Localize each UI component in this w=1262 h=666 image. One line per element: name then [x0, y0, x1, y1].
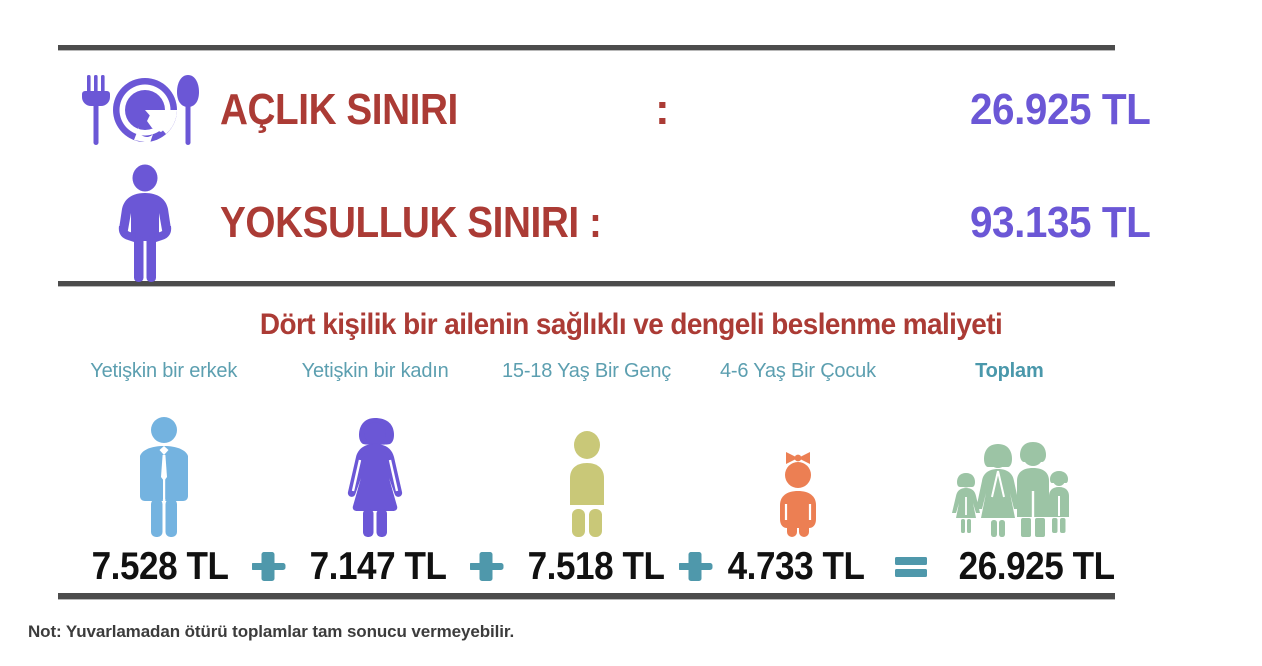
standing-person-icon	[70, 164, 220, 282]
divider-bottom	[58, 593, 1115, 599]
totals-row: 7.528 TL 7.147 TL 7.518 TL 4.733 TL	[58, 543, 1115, 591]
column-label-young-child: 4-6 Yaş Bir Çocuk	[720, 360, 876, 388]
amount-young-child: 4.733 TL	[728, 545, 865, 589]
operator-plus-1	[236, 550, 302, 584]
operator-plus-2	[454, 550, 520, 584]
footnote: Not: Yuvarlamadan ötürü toplamlar tam so…	[28, 622, 514, 642]
column-total: Toplam	[904, 360, 1115, 540]
amount-total: 26.925 TL	[959, 545, 1115, 589]
poverty-limit-value: 93.135 TL	[970, 198, 1150, 248]
infographic-page: Açlık ve yoksulluk sınırı	[0, 0, 1262, 666]
operator-plus-3	[672, 550, 720, 584]
column-label-teenager: 15-18 Yaş Bir Genç	[502, 360, 671, 388]
column-label-adult-man: Yetişkin bir erkek	[90, 360, 237, 388]
poverty-limit-row: YOKSULLUK SINIRI : 93.135 TL	[70, 165, 1110, 280]
family-columns: Yetişkin bir erkek	[58, 360, 1115, 540]
family-group-icon	[949, 388, 1069, 540]
column-adult-man: Yetişkin bir erkek	[58, 360, 269, 540]
column-adult-woman: Yetişkin bir kadın	[269, 360, 480, 540]
divider-middle	[58, 281, 1115, 286]
divider-top	[58, 45, 1115, 50]
plate-fork-knife-icon	[70, 71, 220, 149]
amount-teenager: 7.518 TL	[527, 545, 664, 589]
column-label-total: Toplam	[975, 360, 1043, 388]
family-section-title: Dört kişilik bir ailenin sağlıklı ve den…	[0, 308, 1262, 342]
hunger-limit-row: AÇLIK SINIRI : 26.925 TL	[70, 70, 1110, 150]
column-teenager: 15-18 Yaş Bir Genç	[481, 360, 692, 540]
amount-adult-woman: 7.147 TL	[309, 545, 446, 589]
amount-adult-man: 7.528 TL	[91, 545, 228, 589]
teenager-icon	[557, 388, 617, 540]
adult-man-icon	[127, 388, 201, 540]
hunger-limit-colon: :	[655, 85, 670, 135]
cropped-header-remnant: Açlık ve yoksulluk sınırı	[58, 0, 458, 40]
operator-equals	[872, 554, 950, 580]
young-child-icon	[766, 388, 830, 540]
hunger-limit-label: AÇLIK SINIRI	[220, 85, 458, 135]
column-young-child: 4-6 Yaş Bir Çocuk	[692, 360, 903, 540]
poverty-limit-label: YOKSULLUK SINIRI :	[220, 198, 601, 248]
column-label-adult-woman: Yetişkin bir kadın	[302, 360, 449, 388]
adult-woman-icon	[335, 388, 415, 540]
hunger-limit-value: 26.925 TL	[970, 85, 1150, 135]
family-section-title-text: Dört kişilik bir ailenin sağlıklı ve den…	[260, 308, 1002, 342]
